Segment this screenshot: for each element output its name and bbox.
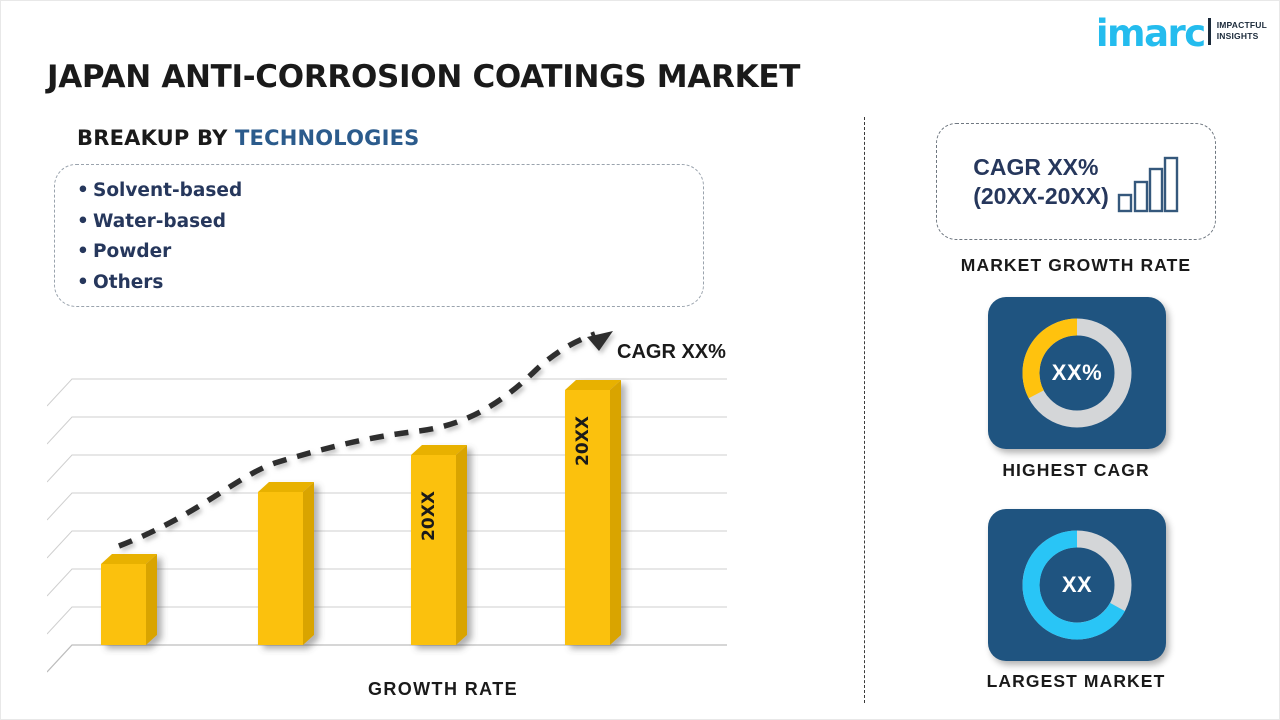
- trendline-label: CAGR XX%: [617, 341, 726, 364]
- logo-wordmark: imarc: [1096, 15, 1205, 52]
- bullet-icon: •: [77, 268, 93, 299]
- subtitle-highlight: TECHNOLOGIES: [235, 126, 420, 150]
- list-item: •Water-based: [77, 207, 242, 238]
- trendline: [119, 331, 613, 546]
- page-title: JAPAN ANTI-CORROSION COATINGS MARKET: [47, 59, 800, 95]
- bullet-icon: •: [77, 207, 93, 238]
- list-item-label: Solvent-based: [93, 180, 242, 201]
- list-item: •Others: [77, 268, 242, 299]
- bar-chart-icon: [1117, 155, 1179, 213]
- bar-item: [101, 554, 157, 645]
- infographic-slide: imarc IMPACTFUL INSIGHTS JAPAN ANTI-CORR…: [0, 0, 1280, 720]
- logo-divider-bar: [1208, 18, 1211, 45]
- bullet-icon: •: [77, 176, 93, 207]
- logo-tagline-line2: INSIGHTS: [1217, 31, 1259, 41]
- bar-value-label: 20XX: [573, 416, 593, 466]
- chart-baseline: [47, 645, 727, 672]
- x-axis-label: GROWTH RATE: [293, 679, 593, 700]
- highest-cagr-caption: HIGHEST CAGR: [916, 460, 1236, 481]
- list-item: •Powder: [77, 237, 242, 268]
- growth-rate-line1: CAGR XX%: [973, 153, 1109, 181]
- growth-rate-text: CAGR XX% (20XX-20XX): [973, 153, 1109, 209]
- highest-cagr-card: XX%: [988, 297, 1166, 449]
- largest-market-card: XX: [988, 509, 1166, 661]
- section-subtitle: BREAKUP BY TECHNOLOGIES: [77, 126, 420, 150]
- subtitle-prefix: BREAKUP BY: [77, 126, 235, 150]
- largest-market-caption: LARGEST MARKET: [916, 671, 1236, 692]
- bullet-icon: •: [77, 237, 93, 268]
- technologies-box: •Solvent-based •Water-based •Powder •Oth…: [54, 164, 704, 307]
- list-item-label: Powder: [93, 241, 171, 262]
- largest-market-value: XX: [1062, 572, 1092, 598]
- growth-rate-line2: (20XX-20XX): [973, 182, 1109, 210]
- panel-divider: [864, 117, 865, 703]
- list-item-label: Others: [93, 272, 163, 293]
- highest-cagr-value: XX%: [1052, 360, 1102, 386]
- list-item-label: Water-based: [93, 211, 226, 232]
- bar-chart-svg: 20XX 20XX: [47, 331, 807, 676]
- logo-tagline-line1: IMPACTFUL: [1217, 20, 1267, 30]
- bar-value-label: 20XX: [419, 491, 439, 541]
- list-item: •Solvent-based: [77, 176, 242, 207]
- trendline-arrow-icon: [587, 331, 613, 351]
- market-growth-rate-caption: MARKET GROWTH RATE: [916, 255, 1236, 276]
- technologies-list: •Solvent-based •Water-based •Powder •Oth…: [77, 176, 242, 298]
- bar-group: [101, 380, 621, 645]
- logo-tagline: IMPACTFUL INSIGHTS: [1217, 20, 1267, 43]
- bar-item: [258, 482, 314, 645]
- growth-rate-bar-chart: 20XX 20XX CAGR XX% GROWTH RATE: [47, 331, 807, 691]
- market-growth-rate-card: CAGR XX% (20XX-20XX): [936, 123, 1216, 240]
- bar-item: [411, 445, 467, 645]
- imarc-logo: imarc IMPACTFUL INSIGHTS: [1096, 11, 1267, 51]
